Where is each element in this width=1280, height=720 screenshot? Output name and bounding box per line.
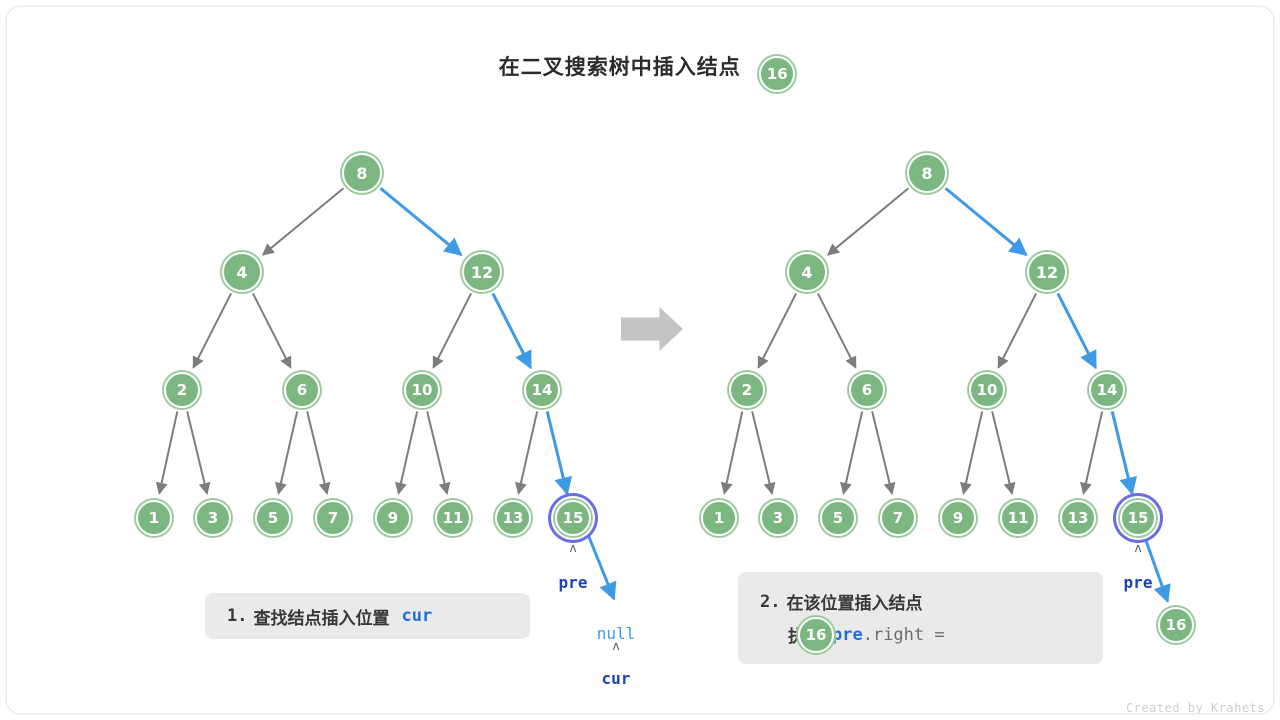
tree-node-3: 3 <box>760 500 796 536</box>
tree-node-15: 15 <box>555 500 591 536</box>
tree-edge <box>818 293 856 367</box>
tree-edge <box>1084 411 1103 493</box>
tree-edge <box>547 411 567 493</box>
tree-edge <box>159 411 177 493</box>
null-label: null <box>576 624 656 643</box>
tree-node-16: 16 <box>1158 607 1194 643</box>
credit-text: Created by Krahets <box>1126 701 1265 714</box>
pre-pointer-right: pre <box>1098 573 1178 592</box>
step-transition-arrow <box>621 307 683 351</box>
tree-node-13: 13 <box>495 500 531 536</box>
title-node-16: 16 <box>759 56 795 92</box>
tree-edge <box>519 411 538 493</box>
tree-node-8: 8 <box>342 153 382 193</box>
caption-step-2: 2. 在该位置插入结点 执行 pre .right = 16 <box>738 572 1103 664</box>
tree-edge <box>724 411 742 493</box>
caption-step-2-field: .right = <box>863 625 945 645</box>
tree-node-11: 11 <box>1000 500 1036 536</box>
tree-node-12: 12 <box>462 252 502 292</box>
tree-edge <box>758 293 796 367</box>
tree-edge <box>307 411 327 493</box>
tree-edge <box>964 411 983 493</box>
tree-edge <box>493 293 531 367</box>
tree-node-2: 2 <box>729 372 765 408</box>
caption-step-1-number: 1. <box>227 606 247 626</box>
tree-edge <box>1112 411 1132 493</box>
tree-node-13: 13 <box>1060 500 1096 536</box>
tree-edge <box>433 293 471 367</box>
tree-node-1: 1 <box>136 500 172 536</box>
tree-node-3: 3 <box>195 500 231 536</box>
tree-node-14: 14 <box>524 372 560 408</box>
tree-node-5: 5 <box>255 500 291 536</box>
diagram-card: 在二叉搜索树中插入结点 16 8412261014135791113158412… <box>6 6 1274 714</box>
caption-step-2-line-1: 2. 在该位置插入结点 <box>760 589 1103 614</box>
tree-edge <box>752 411 772 493</box>
caption-step-2-text: 在该位置插入结点 <box>786 589 922 614</box>
tree-node-4: 4 <box>222 252 262 292</box>
tree-edge <box>828 188 909 255</box>
tree-edge <box>992 411 1012 493</box>
tree-edge <box>279 411 298 493</box>
tree-edge <box>872 411 892 493</box>
page-title-text: 在二叉搜索树中插入结点 <box>499 56 741 79</box>
tree-edge <box>381 188 462 255</box>
tree-node-1: 1 <box>701 500 737 536</box>
caption-step-2-node-16: 16 <box>798 617 834 653</box>
diagram-stage: 在二叉搜索树中插入结点 16 8412261014135791113158412… <box>7 7 1274 714</box>
tree-node-9: 9 <box>940 500 976 536</box>
tree-node-14: 14 <box>1089 372 1125 408</box>
tree-node-8: 8 <box>907 153 947 193</box>
tree-edge <box>193 293 231 367</box>
tree-node-5: 5 <box>820 500 856 536</box>
tree-node-6: 6 <box>849 372 885 408</box>
pointer-caret-icon: ʌ <box>1118 541 1158 555</box>
tree-node-10: 10 <box>969 372 1005 408</box>
tree-node-2: 2 <box>164 372 200 408</box>
tree-edge <box>1058 293 1096 367</box>
tree-node-10: 10 <box>404 372 440 408</box>
tree-node-11: 11 <box>435 500 471 536</box>
tree-node-4: 4 <box>787 252 827 292</box>
pre-pointer-left: pre <box>533 573 613 592</box>
tree-node-6: 6 <box>284 372 320 408</box>
caption-step-1-text: 查找结点插入位置 <box>253 604 389 629</box>
tree-edge <box>399 411 418 493</box>
tree-edge <box>998 293 1036 367</box>
caption-step-1-line: 1. 查找结点插入位置 cur <box>227 604 530 629</box>
tree-node-7: 7 <box>880 500 916 536</box>
pointer-caret-icon: ʌ <box>553 541 593 555</box>
caption-step-1: 1. 查找结点插入位置 cur <box>205 593 530 639</box>
cur-pointer-left: cur <box>576 669 656 688</box>
tree-edge <box>946 188 1027 255</box>
page-title: 在二叉搜索树中插入结点 16 <box>7 47 1274 83</box>
caption-step-2-line-2: 执行 pre .right = 16 <box>788 622 1103 647</box>
tree-node-9: 9 <box>375 500 411 536</box>
tree-edge <box>253 293 291 367</box>
tree-edge <box>844 411 863 493</box>
caption-step-2-pre: pre <box>832 625 863 645</box>
caption-step-1-pointer: cur <box>401 606 432 626</box>
caption-step-2-number: 2. <box>760 592 780 612</box>
tree-node-15: 15 <box>1120 500 1156 536</box>
tree-node-7: 7 <box>315 500 351 536</box>
tree-edge <box>263 188 344 255</box>
tree-edge <box>427 411 447 493</box>
tree-edge <box>187 411 207 493</box>
tree-node-12: 12 <box>1027 252 1067 292</box>
